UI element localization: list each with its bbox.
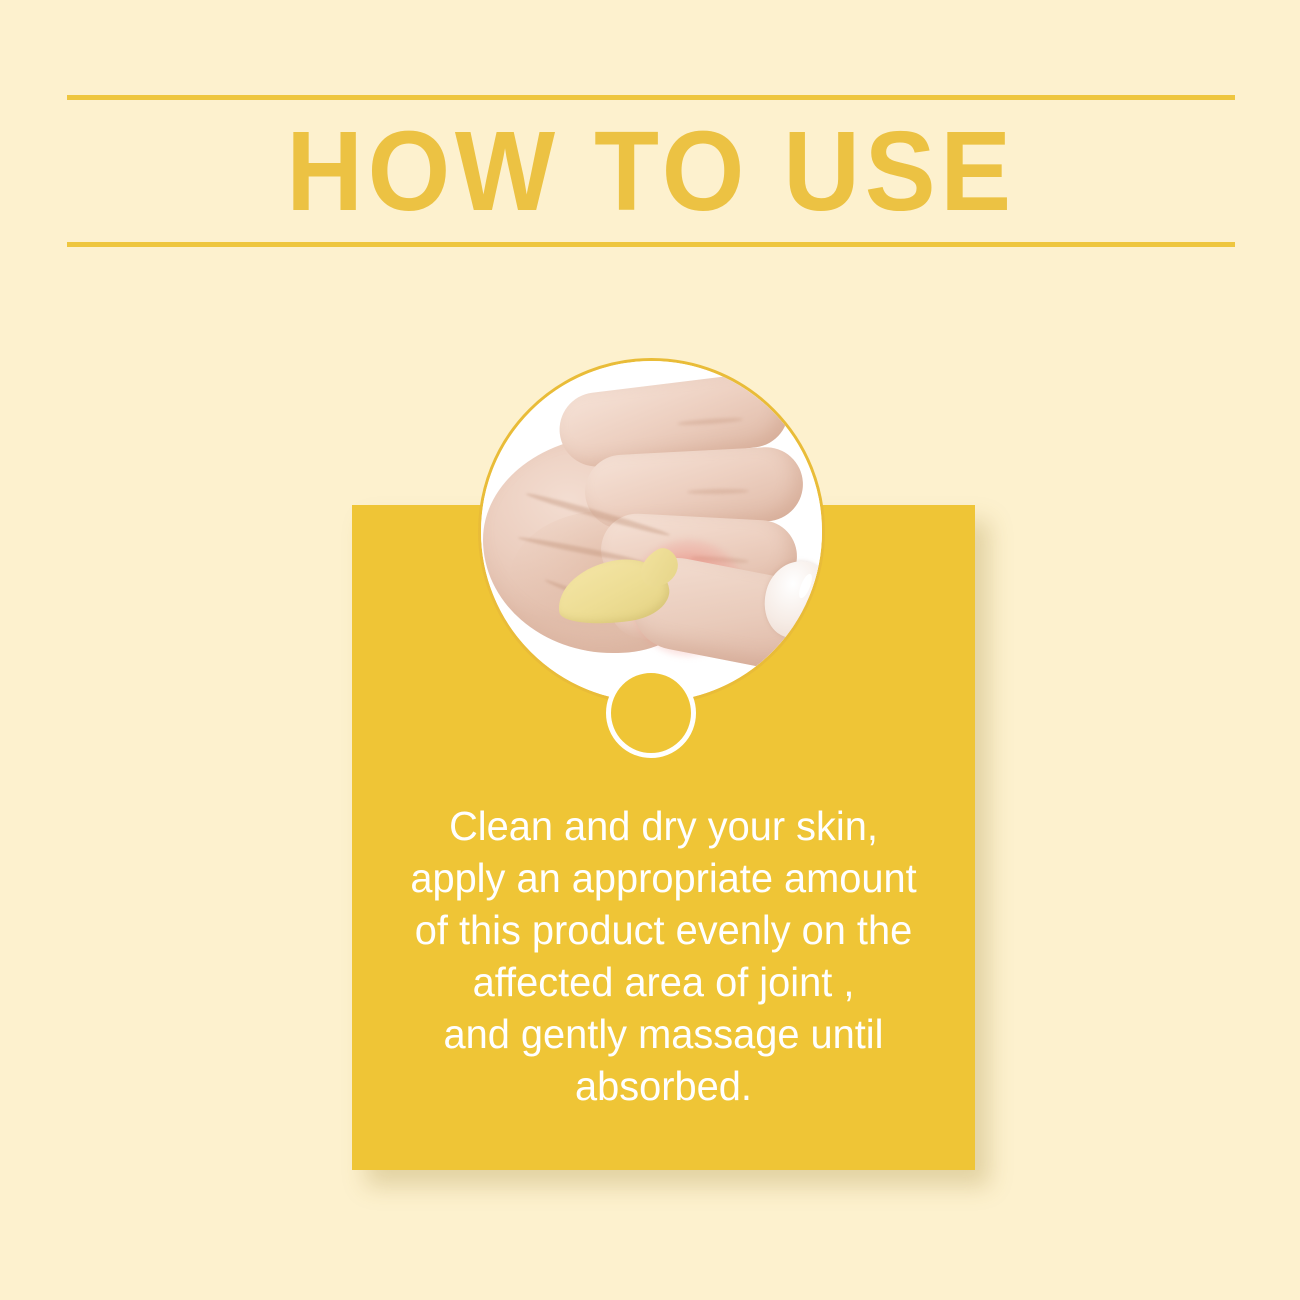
header-rule-bottom (67, 242, 1235, 247)
infographic-canvas: HOW TO USE Clean and dry your skin, ap (0, 0, 1300, 1300)
photo-background (481, 361, 822, 702)
header: HOW TO USE (67, 95, 1235, 247)
hand-applying-cream-photo (478, 358, 825, 705)
page-title: HOW TO USE (102, 100, 1200, 242)
decorative-badge-circle (606, 668, 696, 758)
instruction-text: Clean and dry your skin, apply an approp… (361, 800, 965, 1112)
